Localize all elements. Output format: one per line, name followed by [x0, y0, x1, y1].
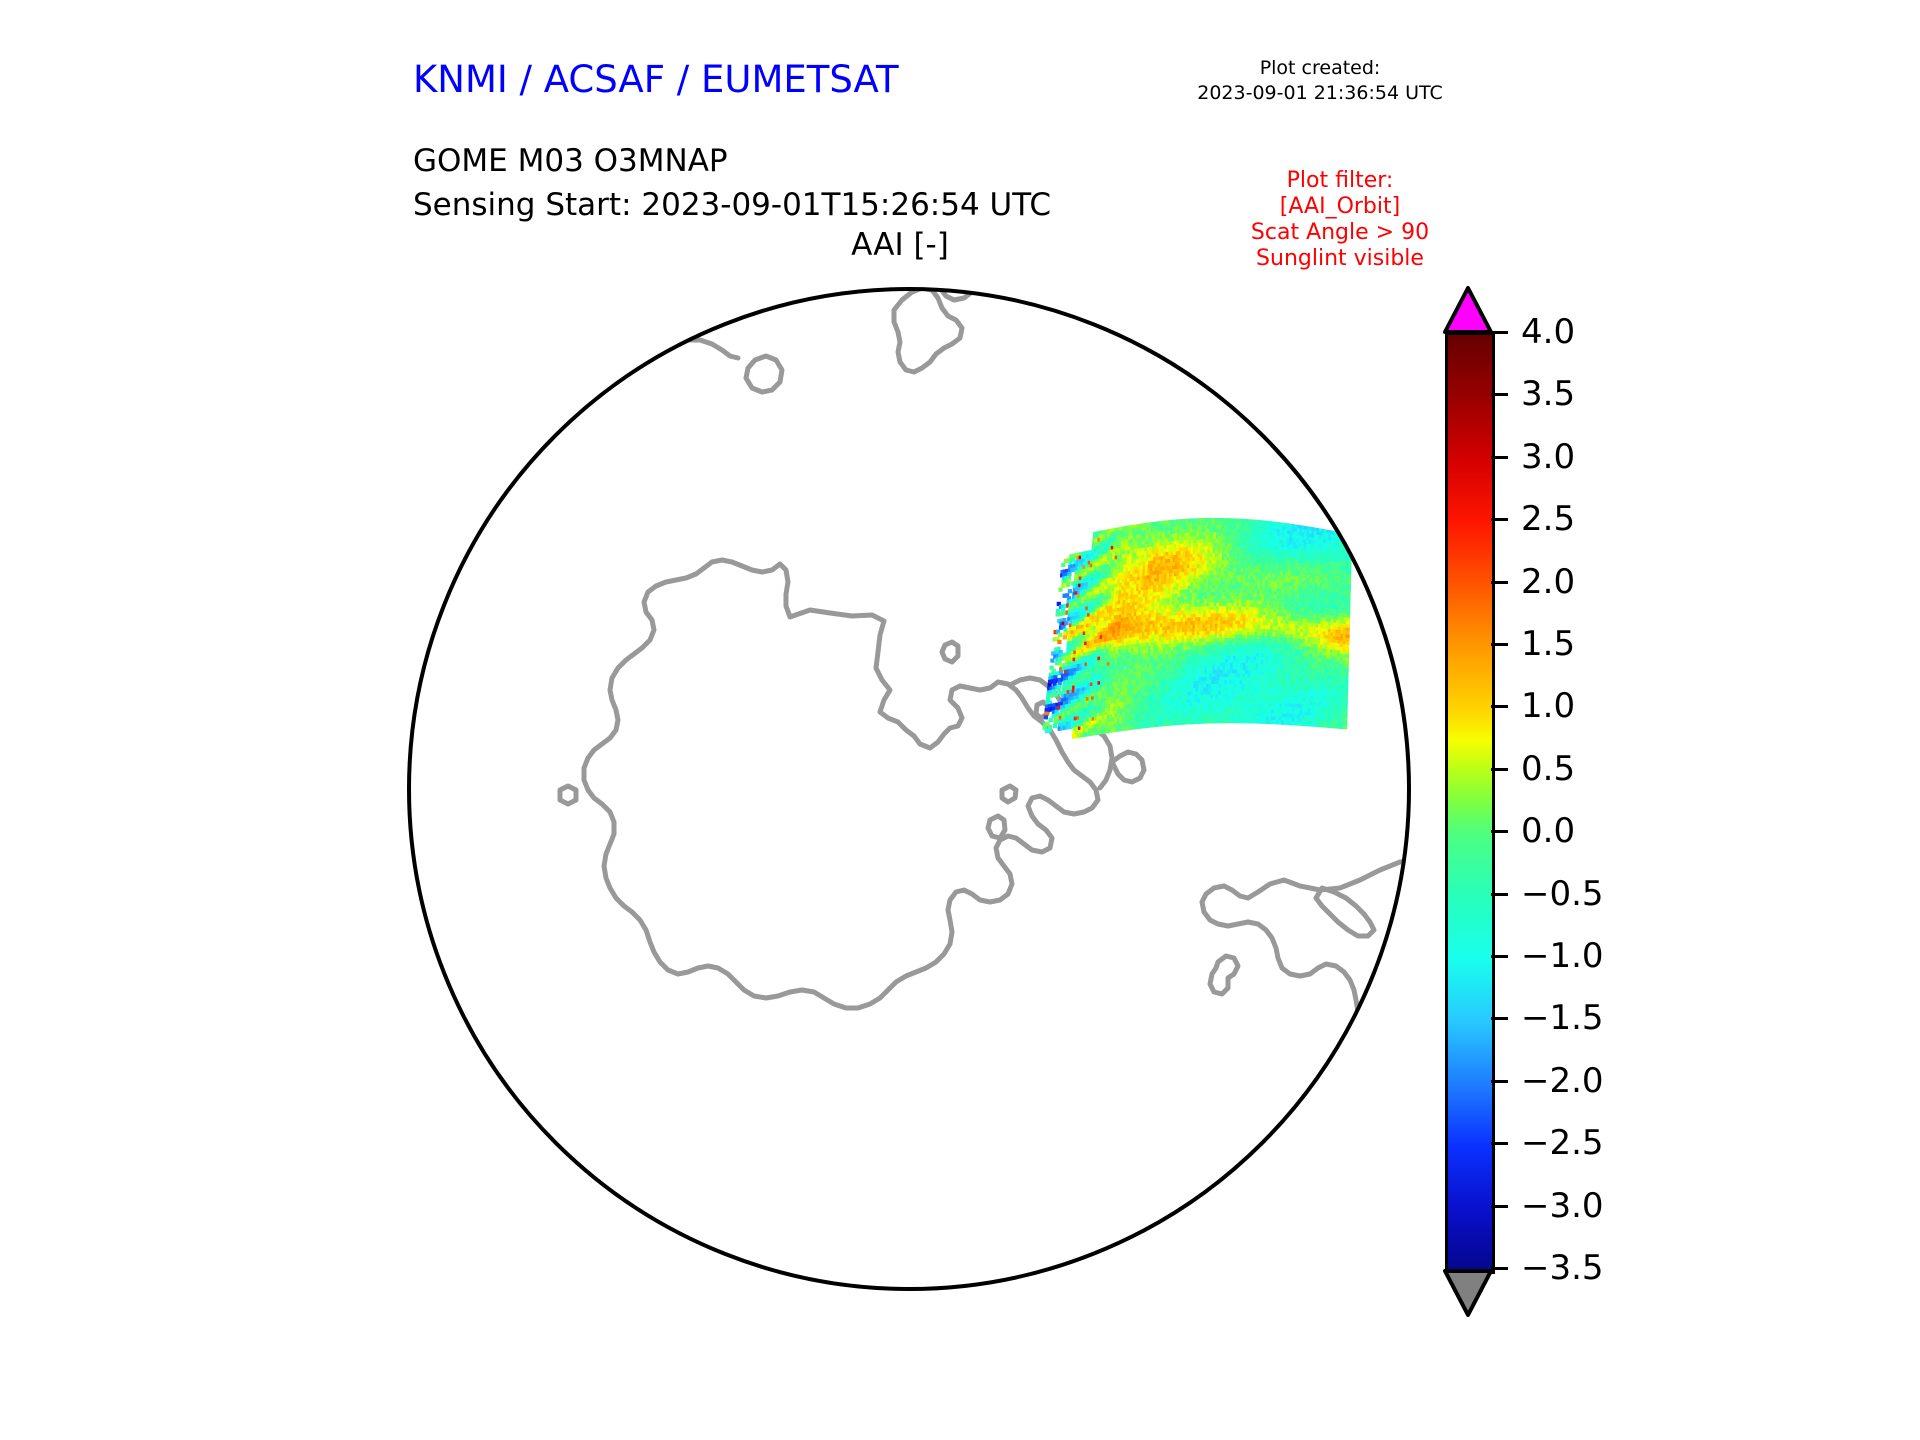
colorbar-tick-mark — [1491, 1017, 1508, 1020]
data-swath — [1043, 518, 1353, 739]
coastline-tasmania — [746, 356, 782, 392]
colorbar-over-arrow — [1443, 285, 1495, 335]
colorbar-tick-label: −0.5 — [1521, 874, 1604, 914]
colorbar-tick-label: −1.5 — [1521, 998, 1604, 1038]
colorbar-tick-label: −2.5 — [1521, 1123, 1604, 1163]
colorbar-tick-label: −1.0 — [1521, 936, 1604, 976]
colorbar-tick-label: 2.5 — [1521, 499, 1575, 539]
colorbar-gradient[interactable] — [1445, 332, 1495, 1274]
colorbar-tick-label: 1.0 — [1521, 686, 1575, 726]
colorbar-tick-mark — [1491, 768, 1508, 771]
colorbar-tick-label: 1.5 — [1521, 624, 1575, 664]
polar-map — [0, 0, 1460, 1440]
coastline-falkland-islands — [1210, 956, 1238, 994]
colorbar-tick-mark — [1491, 705, 1508, 708]
colorbar-tick-mark — [1491, 643, 1508, 646]
coastline-isolated-island-west — [560, 786, 576, 804]
coastline-small-island-a — [942, 642, 958, 662]
colorbar-tick-mark — [1491, 331, 1508, 334]
colorbar-tick-label: 0.0 — [1521, 811, 1575, 851]
coastline-south-america — [1202, 860, 1424, 1038]
colorbar-tick-mark — [1491, 893, 1508, 896]
coastline-tierra-del-fuego — [1316, 888, 1374, 936]
colorbar-tick-label: 3.5 — [1521, 374, 1575, 414]
colorbar-tick-label: 4.0 — [1521, 312, 1575, 352]
plot-page: KNMI / ACSAF / EUMETSAT Plot created: 20… — [0, 0, 1920, 1440]
colorbar-tick-mark — [1491, 830, 1508, 833]
colorbar-tick-mark — [1491, 1205, 1508, 1208]
colorbar[interactable]: 4.03.53.02.52.01.51.00.50.0−0.5−1.0−1.5−… — [1443, 285, 1863, 1305]
coastline-antarctica — [584, 560, 1098, 1008]
colorbar-tick-label: −3.0 — [1521, 1186, 1604, 1226]
coastline-small-island-d — [1002, 786, 1016, 802]
colorbar-under-arrow — [1443, 1268, 1495, 1318]
colorbar-tick-label: 0.5 — [1521, 749, 1575, 789]
colorbar-tick-mark — [1491, 518, 1508, 521]
colorbar-tick-label: −3.5 — [1521, 1248, 1604, 1288]
colorbar-tick-label: 2.0 — [1521, 562, 1575, 602]
colorbar-tick-labels: 4.03.53.02.52.01.51.00.50.0−0.5−1.0−1.5−… — [1521, 285, 1771, 1305]
colorbar-tick-mark — [1491, 1080, 1508, 1083]
coastline-small-island-c — [988, 816, 1005, 838]
colorbar-tick-mark — [1491, 1142, 1508, 1145]
colorbar-tick-label: −2.0 — [1521, 1061, 1604, 1101]
colorbar-tick-mark — [1491, 393, 1508, 396]
coastline-peninsula-tip — [1112, 752, 1144, 782]
colorbar-tick-label: 3.0 — [1521, 437, 1575, 477]
colorbar-tick-mark — [1491, 581, 1508, 584]
colorbar-tick-mark — [1491, 1267, 1508, 1270]
colorbar-tick-mark — [1491, 955, 1508, 958]
colorbar-tick-mark — [1491, 456, 1508, 459]
